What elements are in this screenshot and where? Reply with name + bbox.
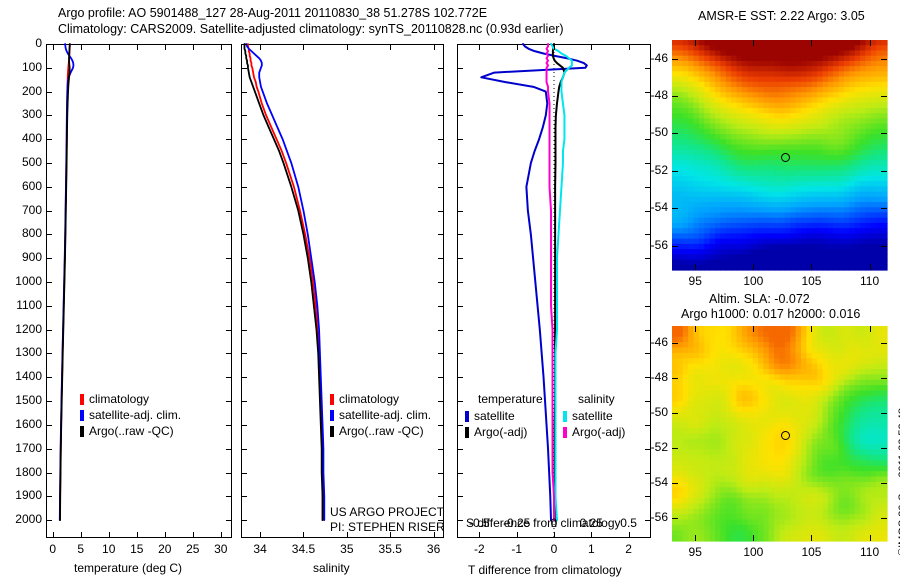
map-cell — [801, 82, 807, 88]
map-cell — [726, 254, 732, 260]
map-cell — [769, 428, 775, 434]
map-cell — [672, 525, 678, 531]
map-cell — [769, 374, 775, 380]
map-cell — [785, 192, 791, 198]
map-cell — [731, 380, 737, 386]
map-cell — [688, 439, 694, 445]
map-cell — [672, 434, 678, 440]
map-cell — [737, 428, 743, 434]
depth-tick — [645, 282, 651, 283]
map-cell — [849, 103, 855, 109]
map-cell — [763, 358, 769, 364]
map-cell — [882, 66, 888, 72]
map-cell — [726, 385, 732, 391]
map-cell — [855, 265, 861, 271]
map-cell — [801, 66, 807, 72]
map-cell — [753, 129, 759, 135]
map-cell — [812, 239, 818, 245]
map-cell — [747, 82, 753, 88]
map-cell — [769, 353, 775, 359]
map-cell — [882, 108, 888, 114]
map-cell — [833, 40, 839, 46]
map-cell — [731, 108, 737, 114]
map-cell — [790, 66, 796, 72]
map-cell — [774, 364, 780, 370]
map-cell — [849, 493, 855, 499]
map-cell — [860, 358, 866, 364]
map-cell — [833, 391, 839, 397]
map-cell — [801, 118, 807, 124]
map-cell — [871, 391, 877, 397]
map-cell — [672, 385, 678, 391]
map-cell — [747, 77, 753, 83]
map-cell — [715, 50, 721, 56]
map-cell — [737, 471, 743, 477]
map-cell — [855, 428, 861, 434]
map-cell — [747, 145, 753, 151]
map-cell — [839, 244, 845, 250]
map-cell — [855, 412, 861, 418]
map-cell — [704, 145, 710, 151]
map-cell — [839, 98, 845, 104]
map-cell — [833, 380, 839, 386]
map-cell — [828, 218, 834, 224]
map-cell — [699, 77, 705, 83]
depth-tick — [46, 353, 52, 354]
map-cell — [677, 536, 683, 542]
map-cell — [866, 471, 872, 477]
map-cell — [806, 77, 812, 83]
map-cell — [817, 40, 823, 46]
map-cell — [849, 113, 855, 119]
map-cell — [694, 254, 700, 260]
map-cell — [753, 471, 759, 477]
map-cell — [683, 71, 689, 77]
map-cell — [769, 477, 775, 483]
map-cell — [715, 530, 721, 536]
map-cell — [866, 536, 872, 542]
map-cell — [801, 369, 807, 375]
map-cell — [812, 385, 818, 391]
map-cell — [876, 40, 882, 46]
map-cell — [758, 56, 764, 62]
map-cell — [855, 108, 861, 114]
map-cell — [688, 207, 694, 213]
map-cell — [801, 364, 807, 370]
map-cell — [737, 239, 743, 245]
map-cell — [817, 244, 823, 250]
map-cell — [758, 471, 764, 477]
map-cell — [849, 460, 855, 466]
map-cell — [785, 113, 791, 119]
map-cell — [823, 254, 829, 260]
map-cell — [742, 92, 748, 98]
map-cell — [683, 455, 689, 461]
map-cell — [849, 139, 855, 145]
map-cell — [839, 374, 845, 380]
map-cell — [747, 444, 753, 450]
map-cell — [720, 417, 726, 423]
map-cell — [677, 207, 683, 213]
map-cell — [710, 239, 716, 245]
map-cell — [704, 244, 710, 250]
map-cell — [699, 374, 705, 380]
map-cell — [806, 155, 812, 161]
map-cell — [833, 82, 839, 88]
map-cell — [855, 239, 861, 245]
map-cell — [710, 129, 716, 135]
map-cell — [747, 326, 753, 332]
map-cell — [855, 50, 861, 56]
map-cell — [726, 223, 732, 229]
map-cell — [806, 493, 812, 499]
map-cell — [833, 525, 839, 531]
map-cell — [688, 223, 694, 229]
map-cell — [801, 455, 807, 461]
map-cell — [796, 66, 802, 72]
map-cell — [672, 493, 678, 499]
map-cell — [683, 124, 689, 130]
map-cell — [683, 525, 689, 531]
map-cell — [882, 358, 888, 364]
map-cell — [806, 444, 812, 450]
map-cell — [780, 525, 786, 531]
depth-tick — [645, 68, 651, 69]
map-cell — [769, 82, 775, 88]
map-cell — [882, 186, 888, 192]
map-cell — [699, 417, 705, 423]
map-cell — [699, 155, 705, 161]
map-cell — [742, 358, 748, 364]
map-cell — [699, 45, 705, 51]
map-cell — [882, 417, 888, 423]
map-cell — [817, 444, 823, 450]
map-cell — [876, 233, 882, 239]
depth-tick — [226, 401, 232, 402]
map-cell — [780, 45, 786, 51]
map-cell — [731, 434, 737, 440]
map-cell — [801, 254, 807, 260]
map-cell — [683, 56, 689, 62]
map-cell — [694, 466, 700, 472]
map-cell — [828, 134, 834, 140]
depth-tick-label: 1000 — [0, 274, 42, 288]
map-cell — [699, 129, 705, 135]
map-cell — [833, 192, 839, 198]
map-cell — [677, 176, 683, 182]
map-cell — [737, 181, 743, 187]
salinity-tick — [434, 44, 435, 50]
map-cell — [683, 439, 689, 445]
map-cell — [747, 466, 753, 472]
map-cell — [796, 160, 802, 166]
map-cell — [677, 407, 683, 413]
map-cell — [806, 134, 812, 140]
map-cell — [860, 450, 866, 456]
map-cell — [763, 412, 769, 418]
map-cell — [742, 118, 748, 124]
map-cell — [683, 385, 689, 391]
map-cell — [672, 134, 678, 140]
map-cell — [710, 150, 716, 156]
map-cell — [866, 348, 872, 354]
map-cell — [726, 145, 732, 151]
map-cell — [731, 353, 737, 359]
map-cell — [855, 145, 861, 151]
map-cell — [882, 353, 888, 359]
map-cell — [753, 192, 759, 198]
map-cell — [753, 401, 759, 407]
map-cell — [817, 439, 823, 445]
map-cell — [849, 202, 855, 208]
map-cell — [812, 108, 818, 114]
map-cell — [785, 171, 791, 177]
map-cell — [860, 482, 866, 488]
map-cell — [774, 358, 780, 364]
map-cell — [677, 145, 683, 151]
map-cell — [720, 145, 726, 151]
map-cell — [683, 520, 689, 526]
map-cell — [833, 493, 839, 499]
map-cell — [796, 358, 802, 364]
map-cell — [715, 407, 721, 413]
map-cell — [823, 165, 829, 171]
map-cell — [839, 139, 845, 145]
map-cell — [699, 50, 705, 56]
map-cell — [726, 213, 732, 219]
map-cell — [871, 176, 877, 182]
map-cell — [758, 391, 764, 397]
depth-tick — [438, 449, 444, 450]
map-cell — [672, 391, 678, 397]
map-cell — [694, 197, 700, 203]
map-cell — [785, 244, 791, 250]
map-cell — [823, 412, 829, 418]
map-cell — [677, 40, 683, 46]
map-cell — [688, 202, 694, 208]
depth-tick — [645, 306, 651, 307]
map-cell — [790, 233, 796, 239]
map-cell — [710, 197, 716, 203]
map-cell — [871, 331, 877, 337]
map-cell — [769, 228, 775, 234]
map-cell — [833, 155, 839, 161]
map-cell — [812, 113, 818, 119]
map-cell — [801, 498, 807, 504]
map-cell — [677, 520, 683, 526]
map-cell — [812, 401, 818, 407]
map-cell — [801, 134, 807, 140]
map-cell — [731, 498, 737, 504]
depth-tick — [226, 139, 232, 140]
map-cell — [833, 160, 839, 166]
map-cell — [683, 466, 689, 472]
map-cell — [763, 514, 769, 520]
depth-tick-label: 2000 — [0, 512, 42, 526]
map-cell — [833, 374, 839, 380]
map-cell — [823, 197, 829, 203]
map-cell — [726, 439, 732, 445]
map-cell — [683, 364, 689, 370]
map-cell — [860, 439, 866, 445]
map-cell — [699, 223, 705, 229]
map-cell — [774, 530, 780, 536]
map-cell — [726, 186, 732, 192]
map-cell — [866, 233, 872, 239]
map-cell — [758, 150, 764, 156]
map-cell — [839, 444, 845, 450]
map-cell — [720, 374, 726, 380]
map-cell — [790, 364, 796, 370]
map-cell — [726, 369, 732, 375]
temperature-tick — [221, 44, 222, 50]
map-cell — [694, 385, 700, 391]
map-cell — [796, 412, 802, 418]
map-cell — [823, 160, 829, 166]
map-cell — [731, 503, 737, 509]
map-cell — [758, 103, 764, 109]
map-cell — [801, 401, 807, 407]
map-cell — [715, 66, 721, 72]
map-cell — [710, 160, 716, 166]
map-cell — [737, 66, 743, 72]
map-cell — [769, 134, 775, 140]
map-cell — [715, 487, 721, 493]
map-cell — [774, 487, 780, 493]
map-cell — [737, 87, 743, 93]
map-cell — [753, 385, 759, 391]
map-cell — [823, 503, 829, 509]
map-cell — [849, 56, 855, 62]
map-cell — [774, 50, 780, 56]
map-cell — [828, 348, 834, 354]
map-cell — [774, 482, 780, 488]
map-cell — [747, 103, 753, 109]
map-cell — [860, 45, 866, 51]
map-cell — [828, 385, 834, 391]
map-cell — [753, 118, 759, 124]
map-cell — [758, 358, 764, 364]
map-cell — [844, 460, 850, 466]
map-cell — [742, 139, 748, 145]
map-cell — [737, 155, 743, 161]
map-cell — [866, 525, 872, 531]
map-cell — [780, 118, 786, 124]
map-cell — [871, 124, 877, 130]
map-cell — [726, 450, 732, 456]
map-cell — [855, 444, 861, 450]
map-cell — [704, 197, 710, 203]
map-cell — [812, 155, 818, 161]
map-cell — [833, 417, 839, 423]
temperature-difference-tick — [517, 532, 518, 538]
map-cell — [683, 171, 689, 177]
map-cell — [866, 364, 872, 370]
map-cell — [855, 118, 861, 124]
map-cell — [769, 348, 775, 354]
map-cell — [849, 326, 855, 332]
map-cell — [758, 181, 764, 187]
map-cell — [806, 192, 812, 198]
map-cell — [844, 254, 850, 260]
map-cell — [833, 450, 839, 456]
map-cell — [828, 423, 834, 429]
map-cell — [855, 374, 861, 380]
map-cell — [855, 160, 861, 166]
map-cell — [726, 202, 732, 208]
map-cell — [866, 249, 872, 255]
map-cell — [774, 103, 780, 109]
map-cell — [688, 155, 694, 161]
map-cell — [737, 493, 743, 499]
map-cell — [694, 396, 700, 402]
map-cell — [796, 171, 802, 177]
map-cell — [694, 439, 700, 445]
map-cell — [785, 364, 791, 370]
map-cell — [790, 482, 796, 488]
map-cell — [769, 455, 775, 461]
map-cell — [699, 503, 705, 509]
map-cell — [769, 71, 775, 77]
map-cell — [817, 428, 823, 434]
map-cell — [715, 160, 721, 166]
map-cell — [780, 87, 786, 93]
map-cell — [790, 186, 796, 192]
map-cell — [790, 92, 796, 98]
map-cell — [747, 482, 753, 488]
temperature-difference-tick — [554, 532, 555, 538]
map-cell — [731, 364, 737, 370]
map-cell — [758, 380, 764, 386]
map-cell — [769, 192, 775, 198]
map-cell — [699, 428, 705, 434]
map-cell — [812, 77, 818, 83]
map-cell — [871, 239, 877, 245]
map-cell — [785, 477, 791, 483]
depth-tick — [457, 425, 463, 426]
map-cell — [844, 498, 850, 504]
map-cell — [672, 113, 678, 119]
map-cell — [769, 401, 775, 407]
temperature-tick — [109, 532, 110, 538]
map-cell — [828, 536, 834, 542]
map-cell — [672, 192, 678, 198]
map-cell — [855, 87, 861, 93]
map-cell — [737, 374, 743, 380]
map-cell — [801, 503, 807, 509]
depth-tick — [438, 68, 444, 69]
map-cell — [763, 455, 769, 461]
map-cell — [823, 150, 829, 156]
map-cell — [823, 455, 829, 461]
map-cell — [860, 228, 866, 234]
map-cell — [855, 244, 861, 250]
map-cell — [806, 207, 812, 213]
map-cell — [855, 260, 861, 266]
map-cell — [747, 155, 753, 161]
map-cell — [876, 520, 882, 526]
map-cell — [817, 249, 823, 255]
map-cell — [774, 536, 780, 542]
map-cell — [876, 87, 882, 93]
map-cell — [780, 56, 786, 62]
map-cell — [672, 87, 678, 93]
map-cell — [828, 108, 834, 114]
map-cell — [677, 514, 683, 520]
map-cell — [731, 165, 737, 171]
map-cell — [876, 460, 882, 466]
map-cell — [715, 254, 721, 260]
